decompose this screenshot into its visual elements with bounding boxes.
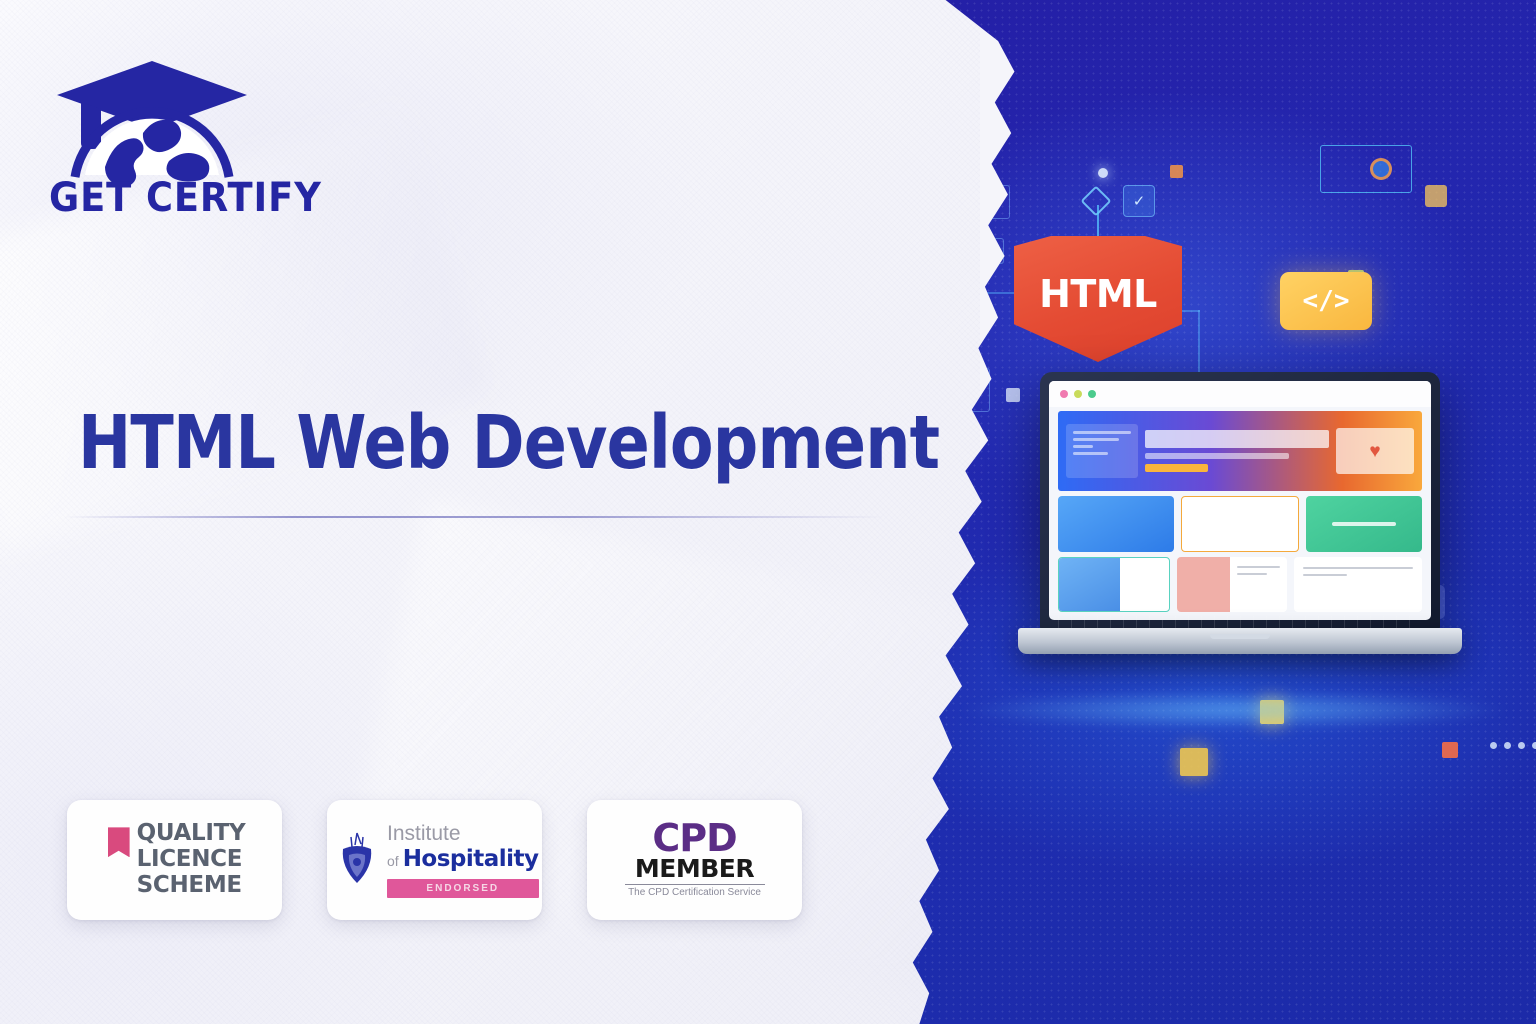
dot-row bbox=[1490, 742, 1536, 749]
badge-institute-of-hospitality[interactable]: Institute of Hospitality ENDORSED bbox=[327, 800, 542, 920]
content-card bbox=[1058, 557, 1170, 613]
card-row bbox=[1058, 557, 1422, 613]
accent-square bbox=[1180, 748, 1208, 776]
hero-content-block bbox=[1145, 430, 1329, 472]
browser-titlebar bbox=[1049, 381, 1431, 407]
brand-logo-text: GET CERTIFY bbox=[49, 175, 239, 221]
laptop-illustration: ♥ bbox=[1040, 372, 1440, 692]
window-close-dot bbox=[1060, 390, 1068, 398]
glow-dot bbox=[1098, 168, 1108, 178]
ioh-of: of bbox=[387, 853, 399, 869]
cpd-subtitle: The CPD Certification Service bbox=[628, 887, 761, 900]
window-maximize-dot bbox=[1088, 390, 1096, 398]
laptop-screen: ♥ bbox=[1049, 381, 1431, 620]
code-tag-label: </> bbox=[1303, 286, 1350, 316]
website-hero-section: ♥ bbox=[1058, 411, 1422, 491]
accent-square bbox=[1170, 165, 1183, 178]
laptop-notch bbox=[1210, 634, 1270, 639]
hero-headline-bar bbox=[1145, 430, 1329, 448]
connector-line bbox=[1097, 205, 1099, 239]
accent-square bbox=[1442, 742, 1458, 758]
qls-line-3: SCHEME bbox=[137, 873, 246, 899]
hero-subtext-bar bbox=[1145, 453, 1289, 459]
gauge-icon bbox=[1370, 158, 1392, 180]
cpd-line-1: CPD bbox=[652, 820, 736, 856]
content-card bbox=[1058, 496, 1174, 552]
content-card bbox=[1177, 557, 1287, 613]
graduation-cap-globe-icon bbox=[47, 55, 257, 185]
content-card bbox=[1306, 496, 1422, 552]
bookmark-icon bbox=[108, 827, 130, 857]
qls-line-2: LICENCE bbox=[137, 847, 246, 873]
cpd-line-2: MEMBER bbox=[635, 856, 754, 881]
laptop-glow-reflection bbox=[955, 690, 1515, 730]
laptop-lid: ♥ bbox=[1040, 372, 1440, 630]
ioh-line-1: Institute bbox=[387, 823, 539, 844]
poster-canvas: ✓ GET C bbox=[0, 0, 1536, 1024]
code-tag-icon: </> bbox=[1280, 272, 1372, 330]
title-divider bbox=[64, 516, 884, 518]
wireframe-card-icon bbox=[1320, 145, 1412, 193]
accent-square bbox=[1006, 388, 1020, 402]
ioh-endorsed-badge: ENDORSED bbox=[387, 879, 539, 898]
hero-cta-button bbox=[1145, 464, 1208, 472]
checkmark-icon: ✓ bbox=[1123, 185, 1155, 217]
content-card bbox=[1181, 496, 1299, 552]
hero-sidebar-block bbox=[1066, 424, 1138, 478]
hero-image-block: ♥ bbox=[1336, 428, 1414, 474]
badge-cpd-member[interactable]: CPD MEMBER The CPD Certification Service bbox=[587, 800, 802, 920]
website-card-grid bbox=[1058, 496, 1422, 612]
heart-icon: ♥ bbox=[1369, 442, 1380, 461]
laptop-base bbox=[1018, 628, 1462, 654]
ioh-line-2: Hospitality bbox=[403, 846, 539, 872]
content-card bbox=[1294, 557, 1422, 613]
accreditation-badges: QUALITY LICENCE SCHEME Institute bbox=[67, 800, 802, 920]
qls-line-1: QUALITY bbox=[137, 821, 246, 847]
accent-square bbox=[1425, 185, 1447, 207]
html-shield-label: HTML bbox=[1039, 272, 1157, 316]
brand-logo[interactable]: GET CERTIFY bbox=[47, 55, 257, 225]
card-row bbox=[1058, 496, 1422, 552]
page-title: HTML Web Development bbox=[78, 406, 766, 480]
badge-quality-licence-scheme[interactable]: QUALITY LICENCE SCHEME bbox=[67, 800, 282, 920]
heraldic-crest-icon bbox=[335, 829, 379, 891]
window-minimize-dot bbox=[1074, 390, 1082, 398]
cpd-divider bbox=[625, 884, 765, 885]
